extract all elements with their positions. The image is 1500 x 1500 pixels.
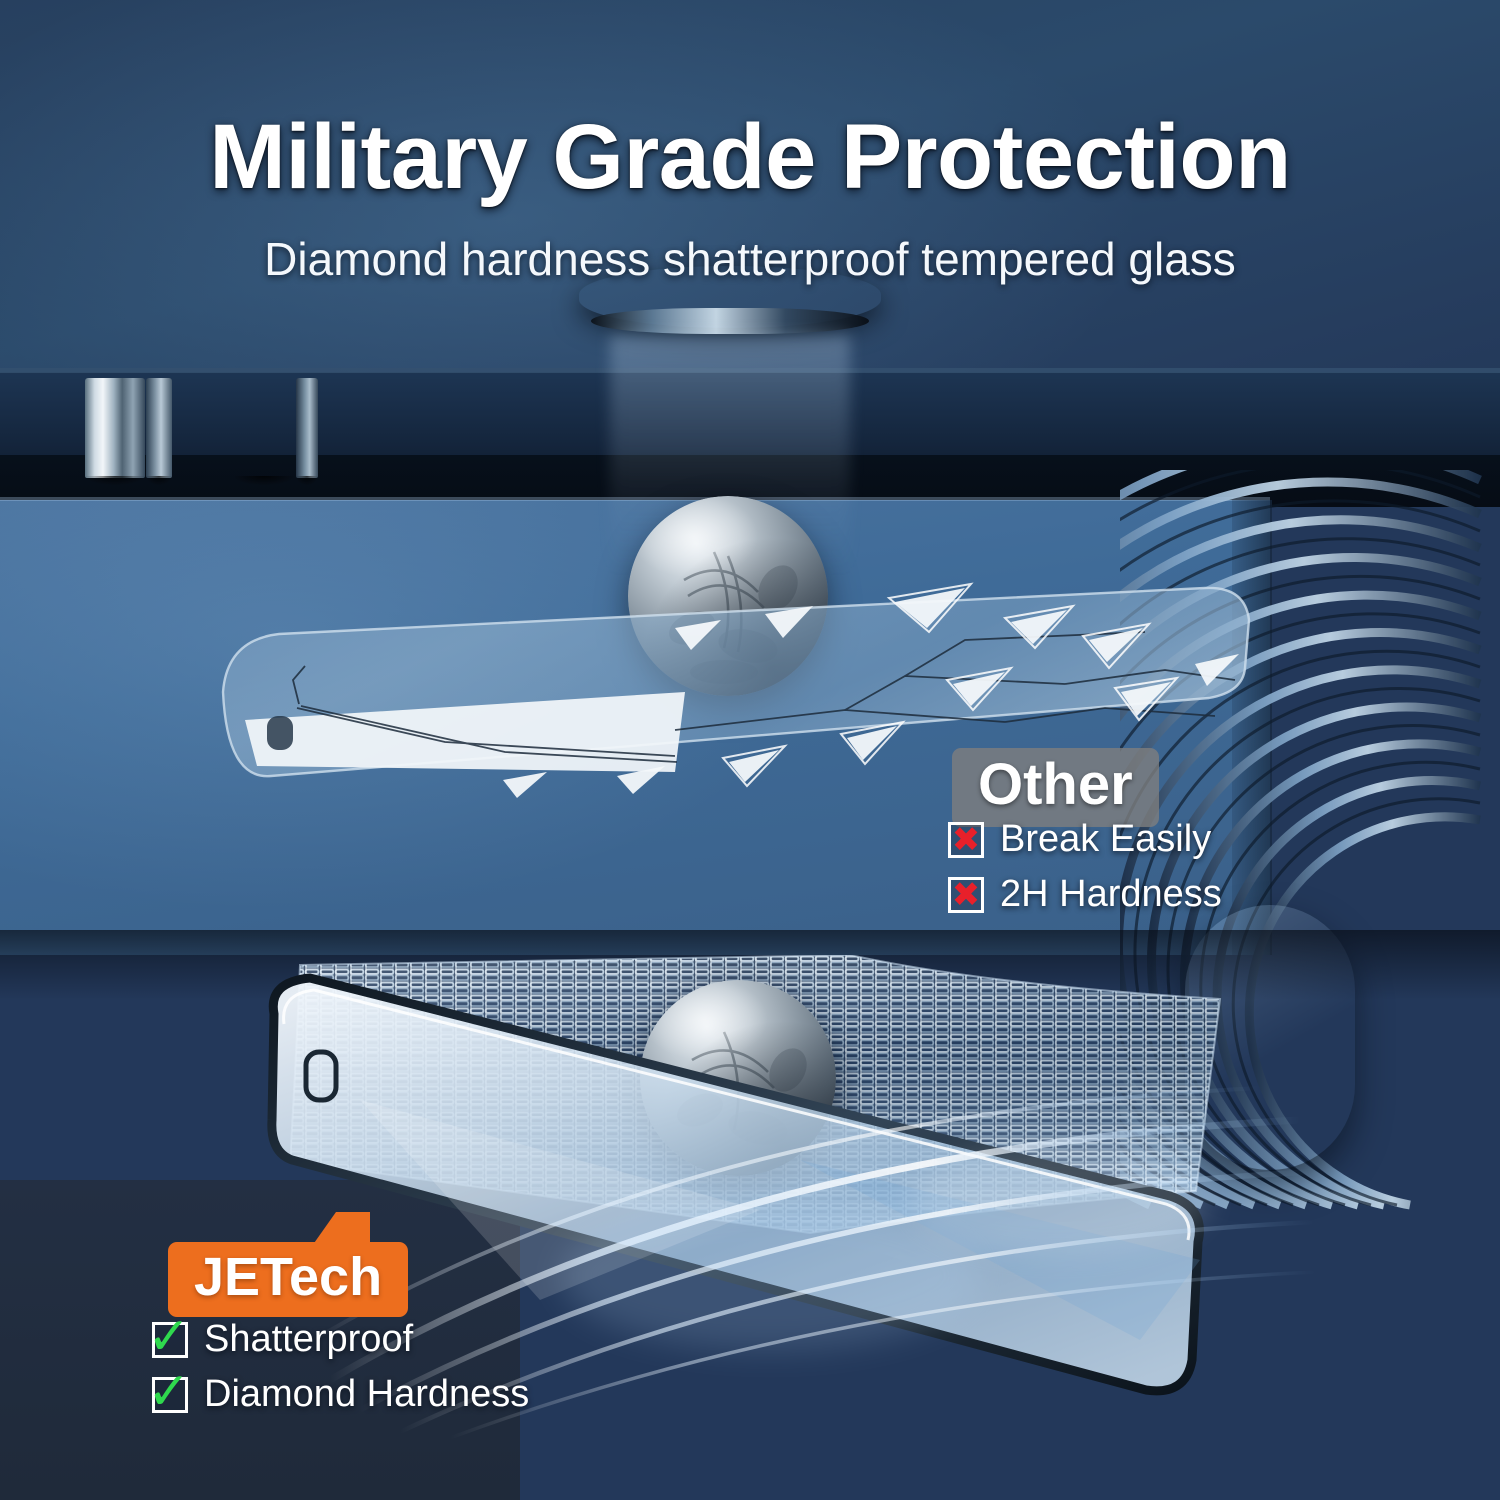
x-mark-icon: ✖	[948, 877, 984, 913]
check-mark-icon: ✓	[152, 1322, 188, 1358]
badge-jetech-pointer	[312, 1212, 370, 1246]
chrome-cylinder-2	[146, 378, 172, 478]
chrome-cylinder-1	[85, 378, 145, 478]
product-feature-image: Military Grade Protection Diamond hardne…	[0, 0, 1500, 1500]
feature-label: Break Easily	[1000, 818, 1211, 861]
feature-label: Diamond Hardness	[204, 1373, 529, 1416]
x-mark-icon: ✖	[948, 822, 984, 858]
press-disc-underside	[591, 308, 869, 334]
feature-label: Shatterproof	[204, 1318, 413, 1361]
check-mark-icon: ✓	[152, 1377, 188, 1413]
feature-row-other-0: ✖ Break Easily	[948, 818, 1222, 861]
chrome-cylinder-4	[296, 378, 318, 478]
feature-list-jetech: ✓ Shatterproof ✓ Diamond Hardness	[152, 1318, 529, 1428]
feature-row-jetech-0: ✓ Shatterproof	[152, 1318, 529, 1361]
feature-list-other: ✖ Break Easily ✖ 2H Hardness	[948, 818, 1222, 928]
page-title: Military Grade Protection	[0, 105, 1500, 210]
feature-label: 2H Hardness	[1000, 873, 1222, 916]
feature-row-jetech-1: ✓ Diamond Hardness	[152, 1373, 529, 1416]
feature-row-other-1: ✖ 2H Hardness	[948, 873, 1222, 916]
camera-cutout	[267, 716, 293, 750]
badge-jetech: JETech	[168, 1242, 408, 1317]
chrome-cylinder-3	[233, 378, 295, 478]
badge-other: Other	[952, 748, 1159, 827]
page-subtitle: Diamond hardness shatterproof tempered g…	[0, 232, 1500, 286]
